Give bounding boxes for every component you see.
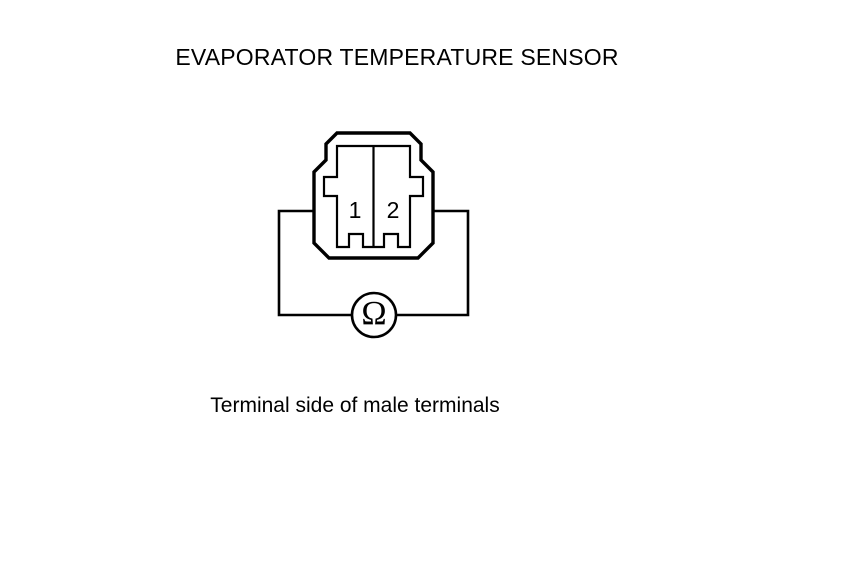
diagram-page: EVAPORATOR TEMPERATURE SENSOR 1 2 Ω T [0, 0, 860, 580]
terminal-label-1: 1 [349, 197, 362, 223]
diagram-caption: Terminal side of male terminals [0, 394, 860, 418]
terminal-label-2: 2 [387, 197, 400, 223]
omega-ohm-symbol: Ω [361, 295, 386, 332]
diagram-caption-text: Terminal side of male terminals [210, 394, 499, 418]
connector-body: 1 2 [314, 133, 433, 258]
ohmmeter: Ω [352, 293, 396, 337]
wiring-test-diagram: 1 2 Ω [0, 0, 860, 580]
